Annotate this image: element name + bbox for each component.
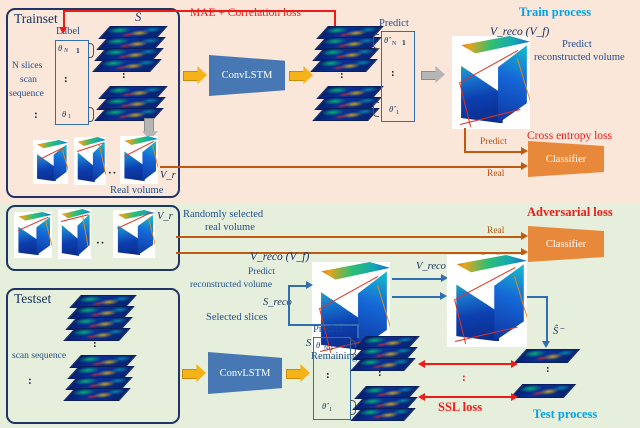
shat-stack-dots: : [546, 366, 550, 373]
label-theta-n: θ [58, 44, 62, 53]
sreco-edge-vertical [288, 285, 290, 325]
ssl-arrow-bottom-right-head [511, 393, 518, 401]
adversarial-predict-edge [176, 252, 522, 254]
trainset-title: Trainset [14, 12, 58, 26]
real-volume-symbol-train: V_r [160, 171, 176, 182]
edge-to-recon-volume-test [288, 285, 308, 287]
shat-edge-horizontal [527, 296, 547, 298]
testset-slice [63, 388, 131, 401]
predict-recon-caption-line1: Predict [562, 40, 592, 51]
predict-caption-train: Predict [379, 19, 409, 30]
random-real-volume-ellipsis: ·· [96, 237, 105, 249]
sreco-caption: Selected slices [206, 313, 268, 324]
output-slice [310, 59, 378, 72]
final-volume-test [447, 255, 527, 347]
real-edge-train [160, 166, 522, 168]
label-caption: Label [56, 27, 80, 38]
predict-recon-caption-test-line2: reconstructed volume [190, 281, 272, 291]
arrow-to-convlstm-test [182, 364, 206, 382]
classifier-test-label: Classifier [528, 226, 604, 262]
shat-edge-vertical [546, 296, 548, 342]
ssl-arrow-top-left-head [418, 360, 425, 368]
adversarial-real-edge [176, 236, 522, 238]
convlstm-test-label: ConvLSTM [208, 352, 282, 394]
test-output-stack-dots: : [378, 370, 382, 377]
random-real-caption-line2: real volume [205, 223, 255, 234]
ssl-arrow-top [424, 363, 512, 365]
ssl-loss-dots: : [462, 373, 466, 385]
testset-scan-dots: : [28, 376, 32, 388]
mae-correlation-loss-label: MAE + Correlation loss [190, 8, 301, 20]
reconstructed-volume-symbol-train: V_reco (V_f) [490, 27, 549, 39]
remaining-edge-arrowhead [440, 292, 447, 300]
random-real-caption-line1: Randomly selected [183, 210, 263, 221]
predict-recon-caption-line2: reconstructed volume [534, 53, 625, 64]
input-slice [92, 59, 162, 72]
trainset-sequence-dots: : [34, 110, 38, 122]
vreco-edge [392, 278, 442, 280]
random-real-volume-sample [58, 209, 91, 259]
vreco-symbol: V_reco [416, 262, 446, 273]
edge-to-recon-volume-arrowhead [306, 281, 313, 289]
classifier-train-block: Classifier [528, 141, 604, 177]
random-real-volume-sample [14, 212, 52, 258]
label-theta-1: θ [62, 110, 66, 119]
predict-edge-train [464, 151, 522, 153]
remaining-symbol: S [306, 339, 311, 350]
predict-caption-test: Predict [313, 325, 343, 336]
ssl-arrow-bottom [424, 396, 512, 398]
real-volume-sample [33, 140, 68, 184]
reconstructed-volume-train [452, 36, 530, 129]
ssl-arrow-bottom-left-head [418, 393, 425, 401]
label-theta-1-subscript: 1 [68, 114, 71, 120]
predict-edge-arrowhead-train [521, 147, 528, 155]
label-theta-n-subscript: N [64, 48, 68, 54]
predict-edge-vertical-train [464, 128, 466, 152]
convlstm-train-label: ConvLSTM [209, 55, 285, 96]
predict-theta-hat-1-subscript: 1 [396, 110, 399, 116]
predict-box-dots-test: : [326, 372, 330, 379]
predict-theta-hat-n-index: 1 [402, 39, 406, 47]
adversarial-real-arrowhead [521, 232, 528, 240]
testset-scan-label: scan sequence [12, 352, 66, 362]
convlstm-test-block: ConvLSTM [208, 352, 282, 394]
arrow-to-convlstm [183, 66, 207, 84]
train-process-label: Train process [519, 6, 591, 19]
real-volume-main [120, 136, 158, 184]
shat-symbol: Ŝ⁻ [553, 327, 564, 338]
random-real-volume-main [113, 210, 155, 258]
classifier-test-block: Classifier [528, 226, 604, 262]
testset-slice [63, 328, 131, 341]
real-volume-sample [74, 137, 106, 185]
testset-title: Testset [14, 292, 51, 306]
input-stack-symbol: S [135, 11, 141, 24]
predict-edge-label-train: Predict [480, 138, 507, 148]
trainset-nslices-line1: N slices [12, 62, 42, 72]
arrow-to-reconstructed-volume [421, 66, 445, 83]
trainset-nslices-line3: sequence [9, 90, 44, 100]
predict-box-dots-train: : [391, 70, 395, 77]
label-box-dots: : [64, 76, 68, 83]
reconstructed-volume-symbol-test: V_reco (V_f) [250, 252, 309, 264]
real-volume-caption-train: Real volume [110, 186, 163, 197]
real-volume-ellipsis: ·· [108, 167, 117, 179]
real-edge-arrowhead-train [521, 162, 528, 170]
ssl-loss-label: SSL loss [438, 401, 482, 414]
predict-brace-bottom [373, 102, 379, 117]
arrow-from-convlstm-test [286, 364, 310, 382]
convlstm-train-block: ConvLSTM [209, 55, 285, 96]
predict-theta-hat-1-subscript-test: 1 [329, 407, 332, 413]
adversarial-loss-label: Adversarial loss [527, 206, 613, 219]
input-stack-dots: : [122, 72, 126, 79]
trainset-nslices-line2: scan [20, 76, 37, 86]
figure-canvas: Train process Trainset MAE + Correlation… [0, 0, 640, 428]
output-stack-dots: : [340, 72, 344, 79]
predict-theta-hat-n: θ̂ [384, 36, 388, 45]
test-process-label: Test process [533, 408, 597, 421]
arrow-from-convlstm [289, 66, 313, 84]
testset-stack-dots: : [93, 341, 97, 348]
predict-theta-hat-1: θ̂ [389, 105, 393, 114]
remaining-edge-horizontal [392, 296, 440, 298]
sreco-edge-drop [357, 324, 359, 338]
label-theta-n-index: 1 [76, 47, 80, 55]
predict-brace-top [373, 34, 379, 49]
predict-theta-hat-n1-test: θ̂ [316, 341, 320, 350]
output-slice [312, 108, 380, 121]
predict-recon-caption-test-line1: Predict [248, 268, 275, 278]
shat-edge-arrowhead [542, 341, 550, 348]
predict-theta-hat-n1-subscript-test: N-1 [324, 346, 333, 352]
label-brace-bottom [88, 107, 94, 122]
label-brace-top [88, 43, 94, 58]
real-edge-label-train: Real [487, 170, 504, 180]
ssl-arrow-top-right-head [511, 360, 518, 368]
predict-theta-hat-1-test: θ̂ [322, 402, 326, 411]
predict-theta-hat-n-subscript: N [392, 41, 396, 47]
random-real-volume-symbol: V_r [157, 212, 173, 223]
classifier-train-label: Classifier [528, 141, 604, 177]
adversarial-real-label: Real [487, 227, 504, 237]
